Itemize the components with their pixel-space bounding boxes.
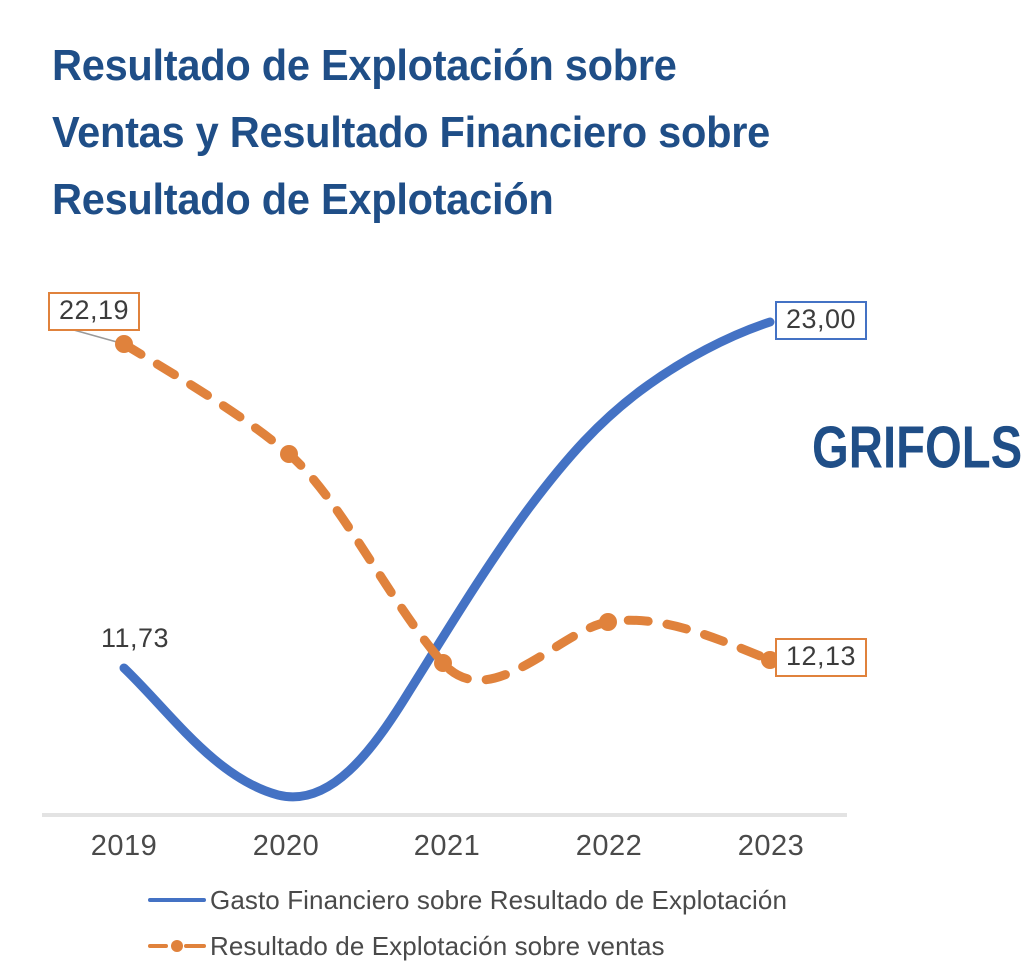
- x-tick-2020: 2020: [253, 830, 320, 863]
- x-tick-2022: 2022: [576, 830, 643, 863]
- legend-label-gasto-financiero: Gasto Financiero sobre Resultado de Expl…: [210, 885, 787, 916]
- value-label-2019-orange: 22,19: [48, 292, 140, 331]
- chart-page: Resultado de Explotación sobre Ventas y …: [0, 0, 1024, 960]
- legend-label-resultado-explotacion: Resultado de Explotación sobre ventas: [210, 931, 665, 962]
- value-label-2019-blue: 11,73: [92, 622, 178, 657]
- legend-swatch-dashed-marker-icon: [148, 937, 206, 955]
- x-tick-2023: 2023: [738, 830, 805, 863]
- x-tick-2019: 2019: [91, 830, 158, 863]
- grifols-logo: GRIFOLS: [812, 418, 1022, 477]
- data-point-marker-2021: [434, 654, 452, 672]
- data-point-marker-2020: [280, 445, 298, 463]
- legend-swatch-solid-line-icon: [148, 891, 206, 909]
- legend-item-resultado-explotacion[interactable]: Resultado de Explotación sobre ventas: [148, 928, 787, 964]
- data-point-marker-2022: [599, 613, 617, 631]
- series-line-gasto-financiero: [124, 322, 770, 797]
- value-label-2023-blue: 23,00: [775, 301, 867, 340]
- data-point-marker-2019: [115, 335, 133, 353]
- x-tick-2021: 2021: [414, 830, 481, 863]
- value-label-2023-orange: 12,13: [775, 638, 867, 677]
- legend-item-gasto-financiero[interactable]: Gasto Financiero sobre Resultado de Expl…: [148, 882, 787, 918]
- chart-legend: Gasto Financiero sobre Resultado de Expl…: [148, 882, 787, 964]
